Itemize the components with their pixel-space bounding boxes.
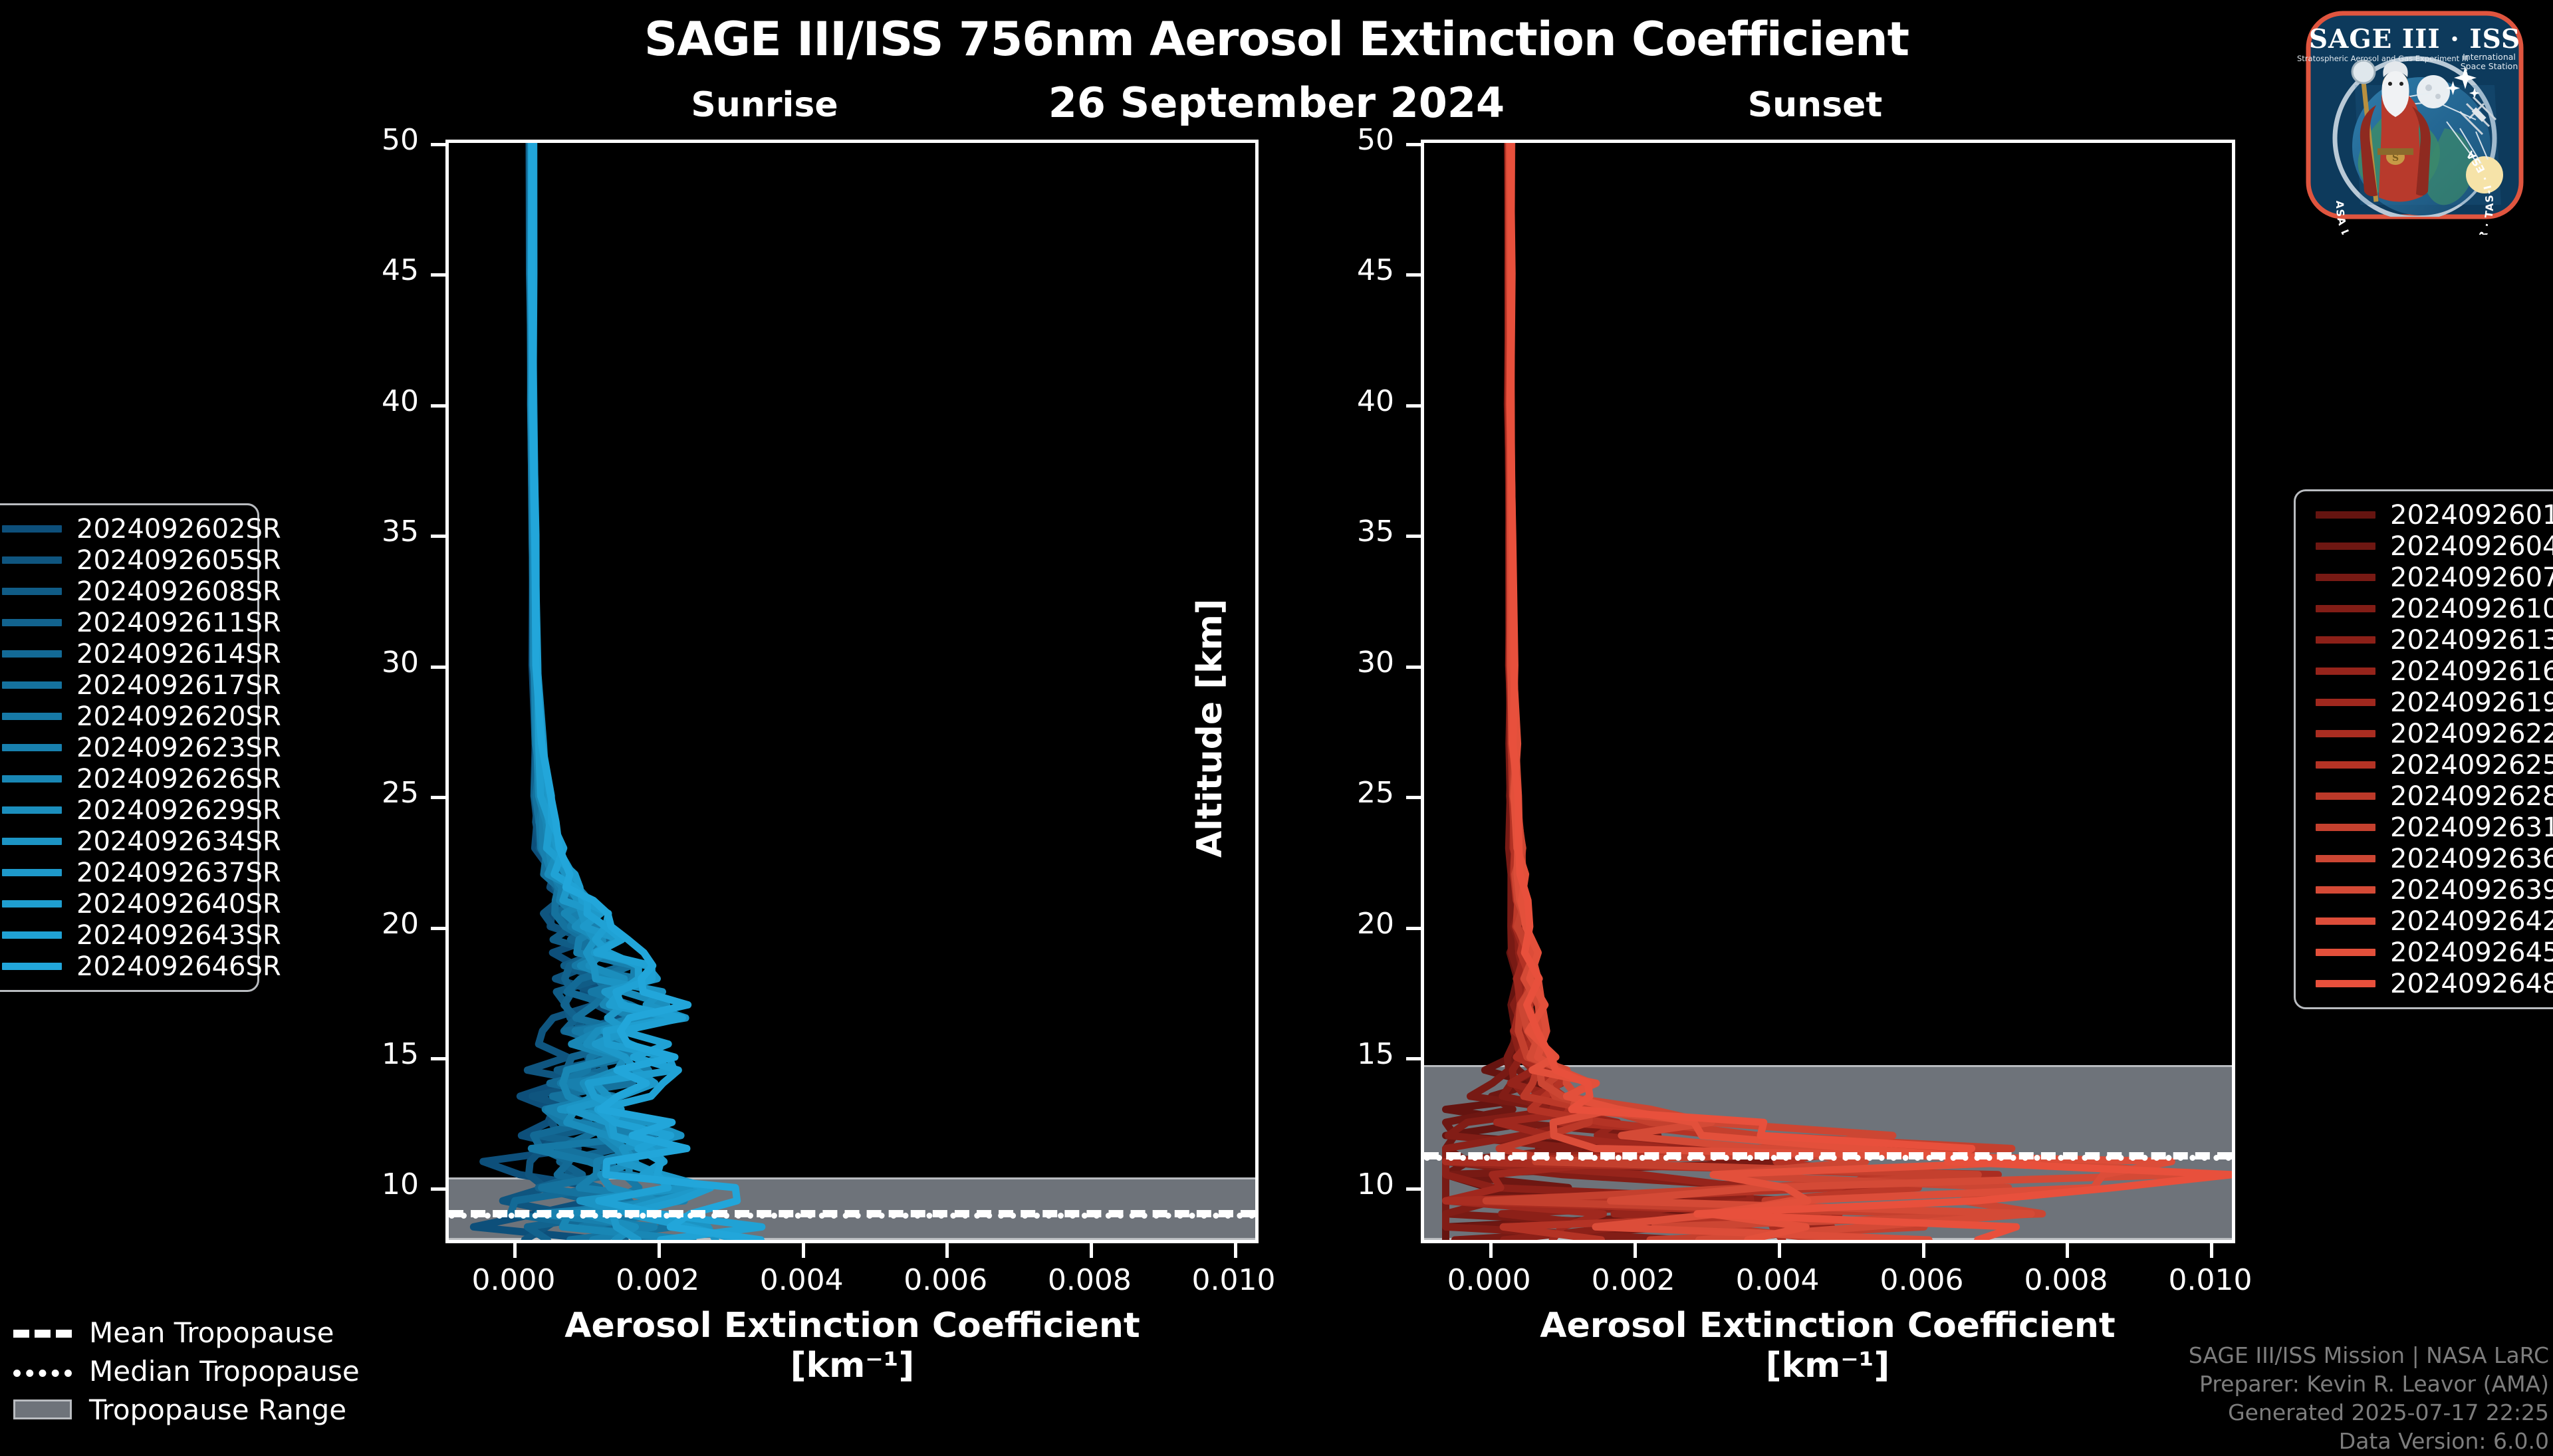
sunset-y-tick-label: 15 bbox=[1288, 1037, 1394, 1071]
legend-color-swatch bbox=[2316, 917, 2375, 925]
sunset-y-tick-label: 35 bbox=[1288, 515, 1394, 548]
legend-item-2024092605SR[interactable]: 2024092605SR bbox=[0, 545, 257, 576]
credits-mission: SAGE III/ISS Mission | NASA LaRC bbox=[2189, 1342, 2549, 1370]
legend-item-2024092645SS[interactable]: 2024092645SS bbox=[2296, 937, 2553, 968]
sunrise-x-tick bbox=[802, 1243, 805, 1258]
legend-label: 2024092611SR bbox=[76, 608, 281, 638]
legend-label: 2024092601SS bbox=[2390, 500, 2553, 531]
sunrise-x-tick-label: 0.010 bbox=[1148, 1263, 1320, 1297]
sunrise-y-tick bbox=[431, 143, 445, 146]
legend-item-2024092619SS[interactable]: 2024092619SS bbox=[2296, 687, 2553, 718]
legend-color-swatch bbox=[2316, 886, 2375, 894]
legend-item-2024092634SR[interactable]: 2024092634SR bbox=[0, 826, 257, 857]
sunrise-y-tick-label: 45 bbox=[312, 253, 419, 287]
tropopause-legend: Mean Tropopause Median Tropopause Tropop… bbox=[13, 1313, 360, 1429]
patch-subtitle-right-line1: International bbox=[2463, 52, 2516, 62]
legend-item-2024092616SS[interactable]: 2024092616SS bbox=[2296, 656, 2553, 687]
sunrise-y-tick bbox=[431, 1187, 445, 1191]
credits-data-version: Data Version: 6.0.0 bbox=[2189, 1427, 2549, 1456]
sunrise-x-axis-label-line2: [km⁻¹] bbox=[443, 1346, 1261, 1386]
legend-label: 2024092617SR bbox=[76, 670, 281, 701]
legend-item-tropopause-range: Tropopause Range bbox=[13, 1390, 360, 1429]
legend-label: 2024092648SS bbox=[2390, 969, 2553, 999]
legend-item-2024092602SR[interactable]: 2024092602SR bbox=[0, 513, 257, 545]
legend-label: 2024092643SR bbox=[76, 920, 281, 951]
profile-line bbox=[1511, 143, 2037, 1240]
sunset-y-tick bbox=[1406, 666, 1421, 669]
sunrise-median-tropopause-line bbox=[449, 1213, 1255, 1219]
legend-item-2024092620SR[interactable]: 2024092620SR bbox=[0, 701, 257, 732]
sunrise-y-tick-label: 35 bbox=[312, 515, 419, 548]
sunset-y-tick bbox=[1406, 143, 1421, 146]
sunrise-y-tick bbox=[431, 273, 445, 277]
legend-color-swatch bbox=[2316, 792, 2375, 800]
legend-color-swatch bbox=[2316, 824, 2375, 831]
sunrise-legend[interactable]: 2024092602SR2024092605SR2024092608SR2024… bbox=[0, 503, 259, 992]
legend-color-swatch bbox=[2316, 605, 2375, 612]
sunset-y-tick-label: 50 bbox=[1288, 123, 1394, 157]
legend-color-swatch bbox=[2316, 949, 2375, 956]
moon-crater-icon bbox=[2435, 94, 2441, 99]
legend-item-2024092613SS[interactable]: 2024092613SS bbox=[2296, 624, 2553, 656]
sunrise-y-tick bbox=[431, 404, 445, 408]
page-title: SAGE III/ISS 756nm Aerosol Extinction Co… bbox=[0, 12, 2553, 66]
legend-item-2024092614SR[interactable]: 2024092614SR bbox=[0, 638, 257, 669]
legend-label: 2024092631SS bbox=[2390, 812, 2553, 843]
sunset-y-tick-label: 40 bbox=[1288, 384, 1394, 418]
sunset-x-tick bbox=[1778, 1243, 1781, 1258]
legend-color-swatch bbox=[2316, 574, 2375, 581]
legend-color-swatch bbox=[2316, 636, 2375, 644]
legend-label: 2024092636SS bbox=[2390, 844, 2553, 874]
legend-label: 2024092628SS bbox=[2390, 781, 2553, 812]
sunrise-x-tick bbox=[1234, 1243, 1237, 1258]
sunrise-x-tick bbox=[945, 1243, 949, 1258]
legend-color-swatch bbox=[2, 525, 62, 533]
moon-crater-icon bbox=[2425, 84, 2432, 91]
legend-color-swatch bbox=[2, 963, 62, 970]
sunrise-y-tick-label: 40 bbox=[312, 384, 419, 418]
sunset-x-tick bbox=[1489, 1243, 1493, 1258]
profile-line bbox=[1446, 143, 1792, 1240]
legend-color-swatch bbox=[2, 681, 62, 689]
sunset-x-tick bbox=[1634, 1243, 1637, 1258]
sunrise-y-tick bbox=[431, 535, 445, 538]
legend-item-2024092637SR[interactable]: 2024092637SR bbox=[0, 857, 257, 888]
sunrise-y-tick bbox=[431, 1057, 445, 1060]
sunset-y-tick bbox=[1406, 535, 1421, 538]
patch-title: SAGE III · ISS bbox=[2309, 24, 2520, 55]
legend-color-swatch bbox=[2, 869, 62, 876]
legend-item-2024092623SR[interactable]: 2024092623SR bbox=[0, 732, 257, 763]
sunset-x-axis-label: Aerosol Extinction Coefficient [km⁻¹] bbox=[1419, 1306, 2237, 1386]
legend-label-median-tropopause: Median Tropopause bbox=[89, 1355, 360, 1388]
sunrise-plot-axes bbox=[445, 140, 1259, 1243]
legend-item-2024092640SR[interactable]: 2024092640SR bbox=[0, 888, 257, 919]
sunrise-x-tick bbox=[658, 1243, 661, 1258]
sunset-y-tick bbox=[1406, 1057, 1421, 1060]
sunset-y-tick-label: 30 bbox=[1288, 646, 1394, 679]
legend-item-2024092610SS[interactable]: 2024092610SS bbox=[2296, 593, 2553, 624]
sunrise-y-tick-label: 25 bbox=[312, 776, 419, 810]
legend-label: 2024092608SR bbox=[76, 576, 281, 607]
legend-color-swatch bbox=[2316, 667, 2375, 675]
legend-item-2024092631SS[interactable]: 2024092631SS bbox=[2296, 812, 2553, 843]
sunrise-y-tick-label: 10 bbox=[312, 1167, 419, 1201]
legend-color-swatch bbox=[2, 619, 62, 626]
sunrise-x-tick bbox=[1090, 1243, 1093, 1258]
sunset-x-axis-label-line2: [km⁻¹] bbox=[1419, 1346, 2237, 1386]
sunrise-y-tick bbox=[431, 666, 445, 669]
sunset-x-tick-label: 0.010 bbox=[2124, 1263, 2296, 1297]
sunrise-x-tick bbox=[513, 1243, 517, 1258]
legend-item-2024092628SS[interactable]: 2024092628SS bbox=[2296, 781, 2553, 812]
profile-line bbox=[1510, 143, 2232, 1240]
legend-color-swatch bbox=[2, 838, 62, 845]
legend-label: 2024092610SS bbox=[2390, 594, 2553, 624]
range-patch-icon bbox=[13, 1399, 72, 1419]
legend-color-swatch bbox=[2, 713, 62, 720]
legend-color-swatch bbox=[2316, 543, 2375, 550]
credits-generated: Generated 2025-07-17 22:25 bbox=[2189, 1399, 2549, 1427]
legend-label: 2024092613SS bbox=[2390, 625, 2553, 656]
legend-label: 2024092607SS bbox=[2390, 562, 2553, 593]
sunrise-y-tick-label: 50 bbox=[312, 123, 419, 157]
sage-iii-iss-mission-patch-logo: S SAGE III · ISS Stratospheric Aerosol a… bbox=[2282, 5, 2548, 235]
legend-label: 2024092646SR bbox=[76, 951, 281, 982]
sunset-plot-area bbox=[1424, 143, 2232, 1240]
sunset-plot-axes bbox=[1421, 140, 2235, 1243]
legend-item-2024092629SR[interactable]: 2024092629SR bbox=[0, 794, 257, 826]
legend-color-swatch bbox=[2, 588, 62, 595]
sunset-y-tick bbox=[1406, 796, 1421, 799]
legend-item-2024092622SS[interactable]: 2024092622SS bbox=[2296, 718, 2553, 749]
sunrise-y-tick-label: 30 bbox=[312, 646, 419, 679]
legend-item-2024092636SS[interactable]: 2024092636SS bbox=[2296, 843, 2553, 874]
sunset-y-tick bbox=[1406, 273, 1421, 277]
legend-color-swatch bbox=[2, 931, 62, 939]
sunset-y-tick bbox=[1406, 404, 1421, 408]
sunrise-y-tick bbox=[431, 796, 445, 799]
legend-label: 2024092640SR bbox=[76, 889, 281, 919]
sunrise-plot-area bbox=[449, 143, 1255, 1240]
legend-item-2024092648SS[interactable]: 2024092648SS bbox=[2296, 968, 2553, 999]
sunset-profile-curves bbox=[1424, 143, 2232, 1240]
legend-item-2024092601SS[interactable]: 2024092601SS bbox=[2296, 499, 2553, 531]
legend-label: 2024092625SS bbox=[2390, 750, 2553, 781]
sunrise-y-tick-label: 20 bbox=[312, 907, 419, 941]
legend-label: 2024092602SR bbox=[76, 514, 281, 545]
legend-label: 2024092614SR bbox=[76, 639, 281, 669]
sunrise-panel-title: Sunrise bbox=[578, 85, 951, 125]
profile-line bbox=[1446, 143, 1724, 1240]
sunset-y-tick-label: 10 bbox=[1288, 1167, 1394, 1201]
credits-block: SAGE III/ISS Mission | NASA LaRC Prepare… bbox=[2189, 1342, 2549, 1456]
legend-color-swatch bbox=[2, 744, 62, 751]
profile-line bbox=[1509, 143, 2185, 1240]
legend-label: 2024092605SR bbox=[76, 545, 281, 576]
legend-label: 2024092623SR bbox=[76, 733, 281, 763]
patch-subtitle-left: Stratospheric Aerosol and Gas Experiment… bbox=[2297, 54, 2469, 63]
sunset-y-tick bbox=[1406, 1187, 1421, 1191]
legend-item-2024092639SS[interactable]: 2024092639SS bbox=[2296, 874, 2553, 906]
legend-label: 2024092622SS bbox=[2390, 719, 2553, 749]
credits-preparer: Preparer: Kevin R. Leavor (AMA) bbox=[2189, 1370, 2549, 1399]
legend-item-2024092626SR[interactable]: 2024092626SR bbox=[0, 763, 257, 794]
legend-label-mean-tropopause: Mean Tropopause bbox=[89, 1316, 334, 1349]
legend-label-tropopause-range: Tropopause Range bbox=[89, 1394, 346, 1426]
legend-item-mean-tropopause: Mean Tropopause bbox=[13, 1313, 360, 1352]
legend-color-swatch bbox=[2, 900, 62, 908]
legend-label: 2024092642SS bbox=[2390, 906, 2553, 937]
legend-color-swatch bbox=[2316, 855, 2375, 862]
legend-label: 2024092634SR bbox=[76, 826, 281, 857]
legend-color-swatch bbox=[2316, 980, 2375, 987]
legend-color-swatch bbox=[2, 650, 62, 658]
legend-label: 2024092645SS bbox=[2390, 937, 2553, 968]
legend-item-2024092642SS[interactable]: 2024092642SS bbox=[2296, 906, 2553, 937]
legend-color-swatch bbox=[2, 775, 62, 783]
legend-label: 2024092639SS bbox=[2390, 875, 2553, 906]
legend-color-swatch bbox=[2316, 761, 2375, 769]
sunrise-x-axis-label-line1: Aerosol Extinction Coefficient bbox=[443, 1306, 1261, 1346]
sunrise-y-tick-label: 15 bbox=[312, 1037, 419, 1071]
sunset-y-tick-label: 25 bbox=[1288, 776, 1394, 810]
legend-label: 2024092616SS bbox=[2390, 656, 2553, 687]
legend-color-swatch bbox=[2316, 511, 2375, 519]
page-subtitle-date: 26 September 2024 bbox=[0, 78, 2553, 127]
profile-line bbox=[1511, 143, 2171, 1240]
profile-line bbox=[1510, 143, 2042, 1240]
legend-item-median-tropopause: Median Tropopause bbox=[13, 1352, 360, 1390]
sunset-y-tick-label: 45 bbox=[1288, 253, 1394, 287]
sunset-x-tick bbox=[2066, 1243, 2069, 1258]
legend-item-2024092625SS[interactable]: 2024092625SS bbox=[2296, 749, 2553, 781]
sunset-y-tick-label: 20 bbox=[1288, 907, 1394, 941]
dotted-line-icon bbox=[13, 1362, 72, 1380]
sunrise-x-axis-label: Aerosol Extinction Coefficient [km⁻¹] bbox=[443, 1306, 1261, 1386]
sunset-median-tropopause-line bbox=[1424, 1155, 2232, 1161]
dashed-line-icon bbox=[13, 1324, 72, 1341]
legend-color-swatch bbox=[2316, 699, 2375, 706]
sunset-panel-title: Sunset bbox=[1629, 85, 2001, 125]
legend-label: 2024092637SR bbox=[76, 858, 281, 888]
legend-label: 2024092619SS bbox=[2390, 687, 2553, 718]
legend-item-2024092611SR[interactable]: 2024092611SR bbox=[0, 607, 257, 638]
legend-label: 2024092626SR bbox=[76, 764, 281, 794]
legend-label: 2024092620SR bbox=[76, 701, 281, 732]
legend-color-swatch bbox=[2, 556, 62, 564]
sunset-x-tick bbox=[2210, 1243, 2213, 1258]
legend-item-2024092607SS[interactable]: 2024092607SS bbox=[2296, 562, 2553, 593]
sunrise-profile-curves bbox=[449, 143, 1255, 1240]
legend-item-2024092646SR[interactable]: 2024092646SR bbox=[0, 951, 257, 982]
sunset-y-tick bbox=[1406, 927, 1421, 930]
legend-item-2024092617SR[interactable]: 2024092617SR bbox=[0, 669, 257, 701]
legend-item-2024092604SS[interactable]: 2024092604SS bbox=[2296, 531, 2553, 562]
legend-color-swatch bbox=[2, 806, 62, 814]
legend-color-swatch bbox=[2316, 730, 2375, 737]
sunrise-y-tick bbox=[431, 927, 445, 930]
legend-item-2024092608SR[interactable]: 2024092608SR bbox=[0, 576, 257, 607]
sunset-y-axis-label: Altitude [km] bbox=[1190, 598, 1230, 858]
sunset-x-axis-label-line1: Aerosol Extinction Coefficient bbox=[1419, 1306, 2237, 1346]
sunset-legend[interactable]: 2024092601SS2024092604SS2024092607SS2024… bbox=[2294, 489, 2553, 1009]
legend-label: 2024092629SR bbox=[76, 795, 281, 826]
sunset-x-tick bbox=[1922, 1243, 1925, 1258]
patch-subtitle-right-line2: Space Station bbox=[2461, 61, 2518, 71]
legend-label: 2024092604SS bbox=[2390, 531, 2553, 562]
legend-item-2024092643SR[interactable]: 2024092643SR bbox=[0, 919, 257, 951]
